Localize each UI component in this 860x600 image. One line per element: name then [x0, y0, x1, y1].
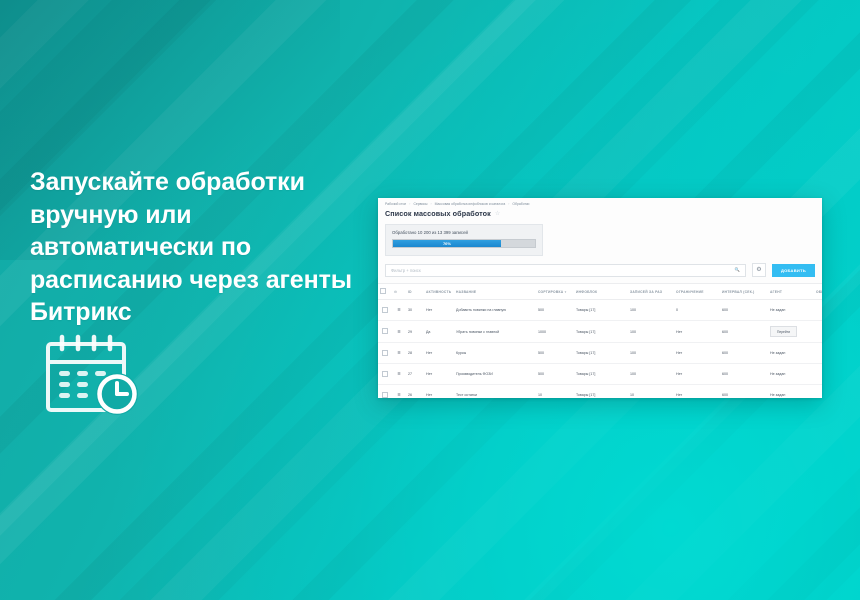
cell-sort: 500 — [536, 364, 574, 385]
add-button[interactable]: ДОБАВИТЬ — [772, 264, 815, 277]
cell-agent: Не задан — [768, 385, 814, 399]
row-checkbox-cell[interactable] — [378, 364, 392, 385]
row-actions-cell[interactable]: ☰ — [392, 321, 406, 343]
search-icon: 🔍 — [735, 267, 740, 273]
cell-name[interactable]: Курсы — [454, 343, 536, 364]
progress-percent-label: 76% — [443, 241, 451, 246]
banner-headline: Запускайте обработки вручную или автомат… — [30, 166, 360, 329]
table-row[interactable]: ☰ 27 Нет Производитель ФОЗИ 500 Товары [… — [378, 364, 822, 385]
grid-settings-button[interactable]: ⚙ — [752, 263, 766, 277]
cell-sort: 500 — [536, 343, 574, 364]
cell-id: 26 — [406, 385, 424, 399]
cell-limit: Нет — [674, 364, 720, 385]
cell-interval: 600 — [720, 364, 768, 385]
cell-sort: 1000 — [536, 321, 574, 343]
cell-active: Нет — [424, 364, 454, 385]
breadcrumb-item[interactable]: Массовая обработка инфоблоков и каталога — [435, 202, 506, 206]
cell-name[interactable]: Убрать новинки с главной — [454, 321, 536, 343]
table-header-row: ⚙ ID АКТИВНОСТЬ НАЗВАНИЕ СОРТИРОВКА ▾ ИН… — [378, 284, 822, 300]
page-title-row: Список массовых обработок ☆ — [385, 209, 815, 218]
cell-infoblock[interactable]: Товары [17] — [574, 343, 628, 364]
column-header-id[interactable]: ID — [406, 284, 424, 300]
cell-process: Запустить — [814, 300, 822, 321]
cell-id: 27 — [406, 364, 424, 385]
row-actions-cell[interactable]: ☰ — [392, 300, 406, 321]
row-checkbox-cell[interactable] — [378, 385, 392, 399]
page-title: Список массовых обработок — [385, 209, 491, 218]
row-checkbox-cell[interactable] — [378, 300, 392, 321]
cell-interval: 600 — [720, 385, 768, 399]
progress-bar-track: 76% — [392, 239, 536, 248]
table-row[interactable]: ☰ 26 Нет Тест остатки 10 Товары [17] 10 … — [378, 385, 822, 399]
cell-per-run: 10 — [628, 385, 674, 399]
column-header-sort[interactable]: СОРТИРОВКА ▾ — [536, 284, 574, 300]
cell-infoblock[interactable]: Товары [17] — [574, 385, 628, 399]
cell-id: 30 — [406, 300, 424, 321]
checkbox-icon[interactable] — [382, 307, 388, 313]
cell-per-run: 100 — [628, 300, 674, 321]
promo-banner: Запускайте обработки вручную или автомат… — [0, 0, 860, 600]
row-checkbox-cell[interactable] — [378, 321, 392, 343]
row-actions-cell[interactable]: ☰ — [392, 364, 406, 385]
cell-infoblock[interactable]: Товары [17] — [574, 300, 628, 321]
cell-id: 29 — [406, 321, 424, 343]
cell-id: 28 — [406, 343, 424, 364]
processes-table: ⚙ ID АКТИВНОСТЬ НАЗВАНИЕ СОРТИРОВКА ▾ ИН… — [378, 283, 822, 398]
breadcrumb: Рабочий стол › Сервисы › Массовая обрабо… — [385, 202, 815, 206]
grid-toolbar: Фильтр + поиск 🔍 ⚙ ДОБАВИТЬ — [378, 256, 822, 283]
cell-process: Запустить — [814, 343, 822, 364]
checkbox-icon[interactable] — [382, 328, 388, 334]
column-header-process[interactable]: ОБРАБОТКА — [814, 284, 822, 300]
cell-per-run: 100 — [628, 364, 674, 385]
cell-limit: 0 — [674, 300, 720, 321]
search-input[interactable]: Фильтр + поиск 🔍 — [385, 264, 746, 277]
breadcrumb-separator-icon: › — [431, 202, 432, 206]
checkbox-icon[interactable] — [380, 288, 386, 294]
table-body: ☰ 30 Нет Добавить новинки на главную 500… — [378, 300, 822, 399]
cell-name[interactable]: Производитель ФОЗИ — [454, 364, 536, 385]
column-header-agent[interactable]: АГЕНТ — [768, 284, 814, 300]
select-all-header[interactable] — [378, 284, 392, 300]
breadcrumb-item[interactable]: Обработки — [512, 202, 529, 206]
product-screenshot: Рабочий стол › Сервисы › Массовая обрабо… — [378, 198, 822, 398]
table-row[interactable]: ☰ 30 Нет Добавить новинки на главную 500… — [378, 300, 822, 321]
progress-bar-fill: 76% — [393, 240, 501, 247]
cell-active: Да — [424, 321, 454, 343]
cell-agent: Не задан — [768, 300, 814, 321]
row-actions-cell[interactable]: ☰ — [392, 343, 406, 364]
cell-sort: 500 — [536, 300, 574, 321]
cell-per-run: 100 — [628, 321, 674, 343]
search-placeholder: Фильтр + поиск — [391, 268, 421, 273]
gear-icon: ⚙ — [756, 267, 761, 273]
progress-label: Обработано 10 200 из 13 399 записей — [392, 230, 536, 235]
column-header-per-run[interactable]: ЗАПИСЕЙ ЗА РАЗ — [628, 284, 674, 300]
cell-limit: Нет — [674, 343, 720, 364]
breadcrumb-separator-icon: › — [508, 202, 509, 206]
cell-agent: Не задан — [768, 343, 814, 364]
cell-per-run: 100 — [628, 343, 674, 364]
cell-active: Нет — [424, 343, 454, 364]
cell-name[interactable]: Тест остатки — [454, 385, 536, 399]
cell-interval: 600 — [720, 321, 768, 343]
screenshot-header: Рабочий стол › Сервисы › Массовая обрабо… — [378, 198, 822, 256]
row-actions-header[interactable]: ⚙ — [392, 284, 406, 300]
checkbox-icon[interactable] — [382, 350, 388, 356]
cell-sort: 10 — [536, 385, 574, 399]
breadcrumb-item[interactable]: Рабочий стол — [385, 202, 406, 206]
cell-infoblock[interactable]: Товары [17] — [574, 364, 628, 385]
breadcrumb-item[interactable]: Сервисы — [413, 202, 427, 206]
cell-process: Запустить — [814, 321, 822, 343]
cell-process: Запустить — [814, 385, 822, 399]
calendar-clock-icon — [38, 332, 148, 420]
cell-active: Нет — [424, 385, 454, 399]
column-header-infoblock[interactable]: ИНФОБЛОК — [574, 284, 628, 300]
cell-limit: Нет — [674, 321, 720, 343]
cell-limit: Нет — [674, 385, 720, 399]
table-row[interactable]: ☰ 28 Нет Курсы 500 Товары [17] 100 Нет 6… — [378, 343, 822, 364]
column-header-sort-label: СОРТИРОВКА — [538, 290, 563, 294]
column-header-active[interactable]: АКТИВНОСТЬ — [424, 284, 454, 300]
favorite-star-icon[interactable]: ☆ — [495, 211, 500, 217]
row-checkbox-cell[interactable] — [378, 343, 392, 364]
cell-process: Запустить — [814, 364, 822, 385]
goto-button[interactable]: Перейти — [770, 326, 797, 337]
sort-arrow-icon: ▾ — [565, 290, 567, 294]
row-actions-cell[interactable]: ☰ — [392, 385, 406, 399]
table-row[interactable]: ☰ 29 Да Убрать новинки с главной 1000 То… — [378, 321, 822, 343]
column-header-limit[interactable]: ОГРАНИЧЕНИЕ — [674, 284, 720, 300]
checkbox-icon[interactable] — [382, 371, 388, 377]
cell-agent: Перейти — [768, 321, 814, 343]
cell-interval: 600 — [720, 300, 768, 321]
breadcrumb-separator-icon: › — [409, 202, 410, 206]
cell-infoblock[interactable]: Товары [17] — [574, 321, 628, 343]
column-header-name[interactable]: НАЗВАНИЕ — [454, 284, 536, 300]
cell-name[interactable]: Добавить новинки на главную — [454, 300, 536, 321]
column-header-interval[interactable]: ИНТЕРВАЛ (СЕК.) — [720, 284, 768, 300]
progress-panel: Обработано 10 200 из 13 399 записей 76% — [385, 224, 543, 256]
cell-agent: Не задан — [768, 364, 814, 385]
cell-active: Нет — [424, 300, 454, 321]
checkbox-icon[interactable] — [382, 392, 388, 398]
cell-interval: 600 — [720, 343, 768, 364]
